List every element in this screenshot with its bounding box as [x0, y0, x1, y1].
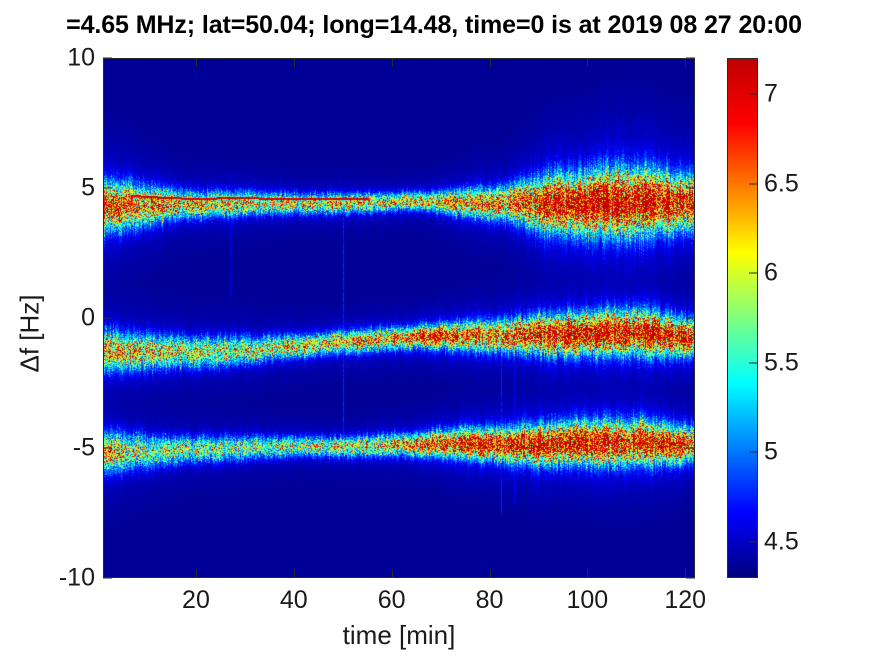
y-tick-mark-right — [686, 58, 695, 59]
spectrogram-image[interactable] — [103, 58, 695, 578]
y-tick-mark — [103, 578, 112, 579]
colorbar-gradient — [727, 58, 758, 578]
x-tick-mark — [587, 569, 588, 578]
spectrogram-figure: =4.65 MHz; lat=50.04; long=14.48, time=0… — [0, 0, 875, 656]
x-tick-label: 80 — [445, 586, 535, 615]
y-tick-mark-right — [686, 448, 695, 449]
x-tick-mark — [490, 569, 491, 578]
y-tick-label: -5 — [3, 434, 95, 463]
x-tick-label: 60 — [347, 586, 437, 615]
x-tick-label: 20 — [151, 586, 241, 615]
colorbar-tick-mark — [749, 452, 757, 453]
colorbar-tick-mark — [749, 362, 757, 363]
y-tick-mark-right — [686, 578, 695, 579]
y-tick-label: 10 — [3, 44, 95, 73]
x-tick-label: 40 — [249, 586, 339, 615]
y-tick-mark-right — [686, 188, 695, 189]
x-tick-mark-top — [685, 58, 686, 67]
y-axis-label: Δf [Hz] — [15, 244, 46, 424]
colorbar-tick-label: 6.5 — [764, 169, 799, 198]
y-tick-mark-right — [686, 318, 695, 319]
x-tick-mark — [392, 569, 393, 578]
colorbar-tick-label: 6 — [764, 259, 778, 288]
x-tick-mark-top — [392, 58, 393, 67]
y-tick-mark — [103, 448, 112, 449]
x-tick-mark — [685, 569, 686, 578]
colorbar-tick-mark — [749, 273, 757, 274]
x-tick-label: 100 — [542, 586, 632, 615]
colorbar-tick-mark — [749, 542, 757, 543]
plot-area[interactable] — [103, 58, 695, 578]
colorbar-tick-label: 5 — [764, 438, 778, 467]
x-tick-mark-top — [587, 58, 588, 67]
x-tick-label: 120 — [640, 586, 730, 615]
y-tick-mark — [103, 188, 112, 189]
y-tick-mark — [103, 58, 112, 59]
colorbar-tick-mark — [749, 183, 757, 184]
figure-title: =4.65 MHz; lat=50.04; long=14.48, time=0… — [0, 11, 875, 40]
colorbar-tick-label: 5.5 — [764, 348, 799, 377]
colorbar-tick-label: 4.5 — [764, 528, 799, 557]
y-tick-mark — [103, 318, 112, 319]
x-tick-mark — [294, 569, 295, 578]
x-axis-label: time [min] — [103, 620, 695, 651]
x-tick-mark — [196, 569, 197, 578]
y-tick-label: -10 — [3, 564, 95, 593]
colorbar-tick-mark — [749, 93, 757, 94]
colorbar-tick-label: 7 — [764, 79, 778, 108]
colorbar[interactable] — [727, 58, 758, 578]
y-tick-label: 5 — [3, 174, 95, 203]
x-tick-mark-top — [196, 58, 197, 67]
x-tick-mark-top — [490, 58, 491, 67]
x-tick-mark-top — [294, 58, 295, 67]
